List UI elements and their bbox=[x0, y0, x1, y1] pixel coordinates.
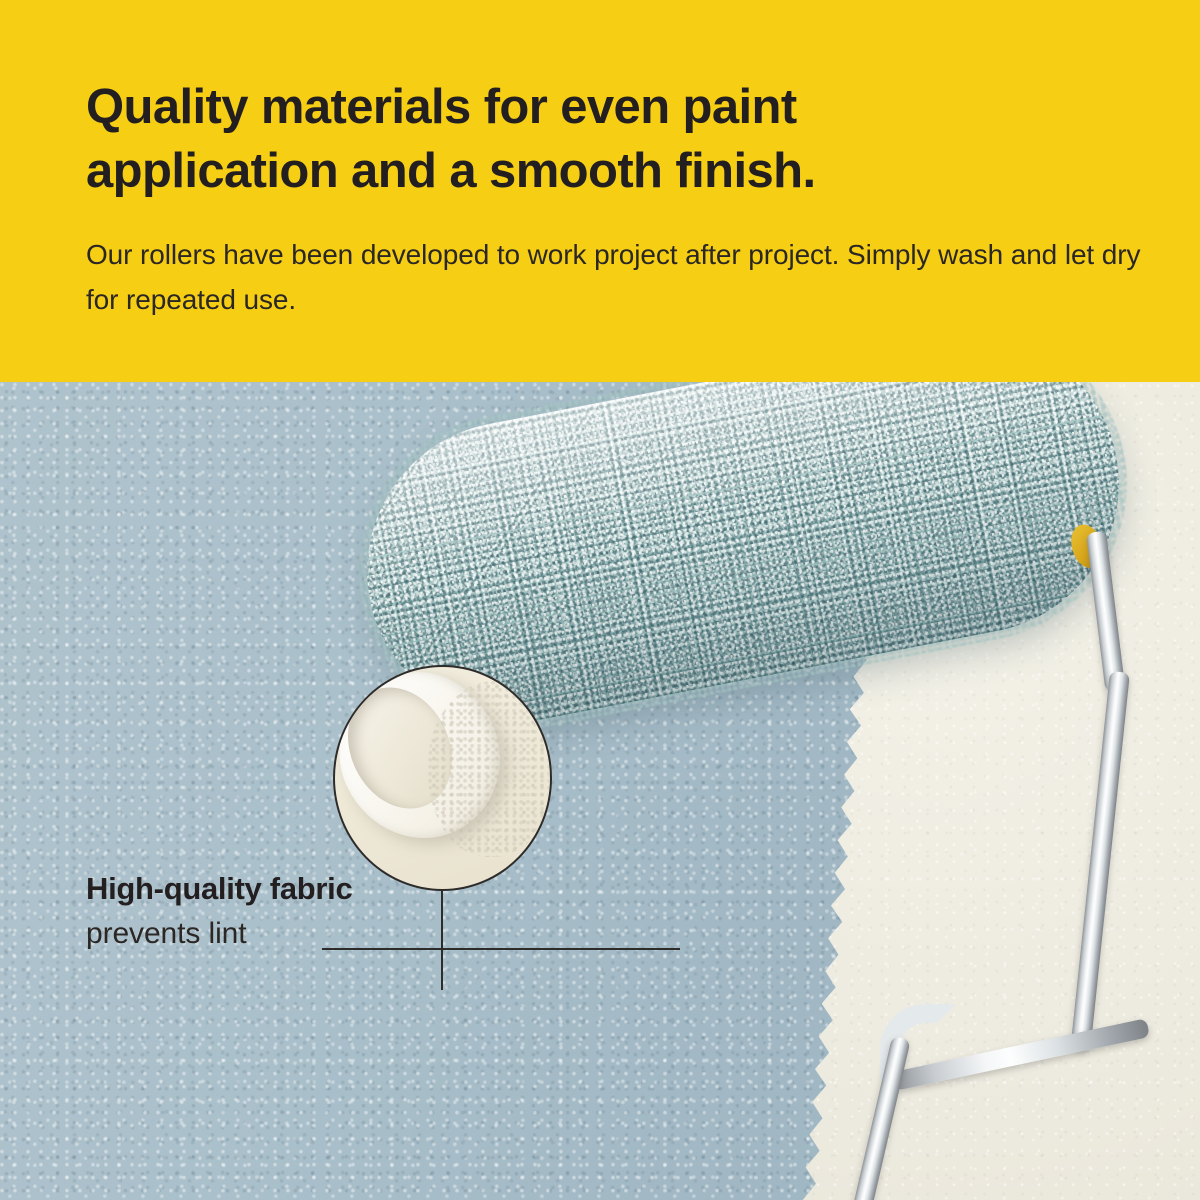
magnifier-leader-line bbox=[441, 890, 443, 990]
product-feature-graphic: Quality materials for even paint applica… bbox=[0, 0, 1200, 1200]
core-nap-edge bbox=[428, 681, 552, 857]
banner-subtitle: Our rollers have been developed to work … bbox=[86, 232, 1146, 323]
page-title: Quality materials for even paint applica… bbox=[86, 76, 1036, 203]
product-photo: High-quality fabric prevents lint Polypr… bbox=[0, 382, 1200, 1200]
callout-title: High-quality fabric bbox=[86, 870, 352, 908]
callout-high-quality-fabric: High-quality fabric prevents lint bbox=[86, 870, 352, 953]
banner: Quality materials for even paint applica… bbox=[0, 0, 1200, 382]
callout-subtitle: prevents lint bbox=[86, 914, 352, 953]
callout-leader-line bbox=[322, 948, 680, 950]
magnifier-circle bbox=[333, 665, 552, 891]
